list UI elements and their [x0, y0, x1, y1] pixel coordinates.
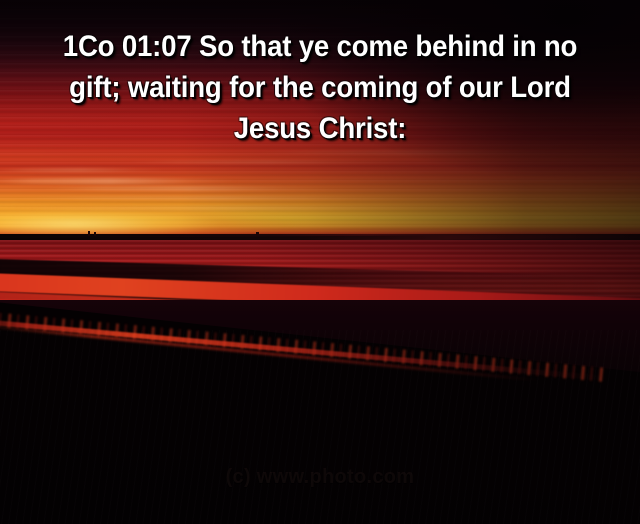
horizon-speck — [88, 231, 90, 236]
horizon-speck — [256, 232, 259, 236]
sand-texture — [0, 330, 640, 524]
watermark-text: (c) www.photo.com — [0, 466, 640, 489]
verse-text: 1Co 01:07 So that ye come behind in no g… — [26, 26, 615, 149]
horizon-speck — [94, 232, 96, 236]
verse-image: (c) www.photo.com 1Co 01:07 So that ye c… — [0, 0, 640, 524]
